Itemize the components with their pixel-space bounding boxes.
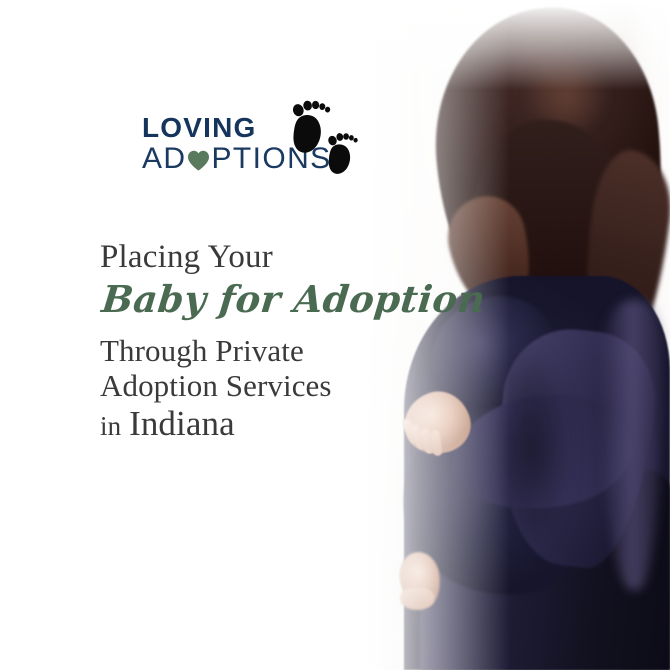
- headline-line-3: Through Private: [100, 335, 410, 368]
- lower-hand-fingers: [400, 588, 434, 610]
- headline-line-4: Adoption Services: [100, 370, 410, 403]
- headline-script-line: Baby for Adoption: [100, 277, 413, 321]
- heart-icon: [187, 150, 210, 171]
- headline-line-1: Placing Your: [100, 240, 410, 275]
- headline-in-word: in: [100, 411, 121, 441]
- baby-footprints-icon: [272, 100, 364, 180]
- promo-graphic: LOVING AD PTIONS: [0, 0, 670, 670]
- headline: Placing Your Baby for Adoption Through P…: [100, 240, 410, 442]
- logo-adoptions-prefix: AD: [142, 144, 186, 174]
- dress-shadow: [470, 300, 590, 600]
- headline-line-5: in Indiana: [100, 405, 410, 442]
- headline-state-name: Indiana: [129, 404, 235, 443]
- logo-line-loving: LOVING: [142, 114, 257, 142]
